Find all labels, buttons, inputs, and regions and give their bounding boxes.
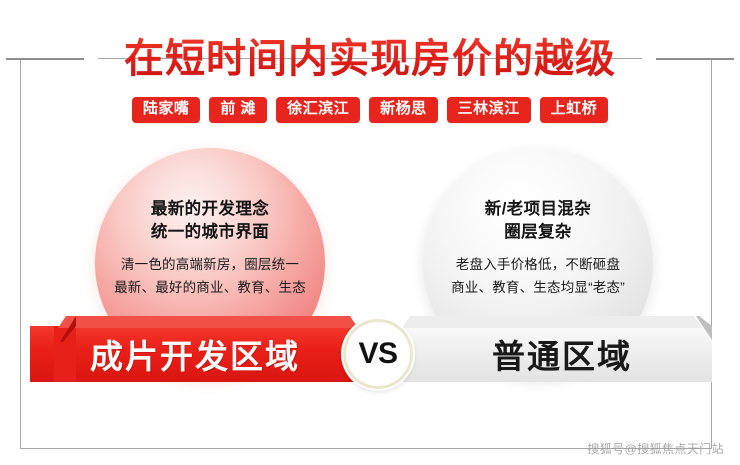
page-title: 在短时间内实现房价的越级 (98, 33, 642, 85)
district-tag-sanlinbinjiang[interactable]: 三林滨江 (447, 97, 531, 123)
title-spacer-right (642, 31, 656, 87)
left-detail-line1: 清一色的高端新房，圈层统一 (60, 254, 360, 275)
right-heading-line1: 新/老项目混杂 (388, 198, 688, 221)
left-banner: 成片开发区域 (30, 316, 378, 382)
title-row: 在短时间内实现房价的越级 (0, 24, 740, 94)
left-heading-line2: 统一的城市界面 (60, 221, 360, 244)
right-detail-line1: 老盘入手价格低，不断砸盘 (388, 254, 688, 275)
left-sphere-text-block: 最新的开发理念 统一的城市界面 清一色的高端新房，圈层统一 最新、最好的商业、教… (60, 198, 360, 299)
title-rule-right (656, 58, 734, 60)
district-tag-row: 陆家嘴 前 滩 徐汇滨江 新杨思 三林滨江 上虹桥 (0, 97, 740, 123)
district-tag-qiantan[interactable]: 前 滩 (209, 97, 267, 123)
watermark-text: 搜狐号@搜狐焦点天门站 (587, 440, 724, 457)
title-spacer-left (84, 31, 98, 87)
left-banner-label: 成片开发区域 (30, 326, 360, 382)
right-detail-line2: 商业、教育、生态均显“老态” (388, 277, 688, 298)
infographic-canvas: 在短时间内实现房价的越级 陆家嘴 前 滩 徐汇滨江 新杨思 三林滨江 上虹桥 最… (0, 0, 740, 465)
right-heading-line2: 圈层复杂 (388, 221, 688, 244)
left-heading-line1: 最新的开发理念 (60, 198, 360, 221)
left-detail-line2: 最新、最好的商业、教育、生态 (60, 277, 360, 298)
district-tag-xinyangsi[interactable]: 新杨思 (369, 97, 438, 123)
right-banner: 普通区域 (398, 316, 712, 382)
right-sphere-text-block: 新/老项目混杂 圈层复杂 老盘入手价格低，不断砸盘 商业、教育、生态均显“老态” (388, 198, 688, 299)
district-tag-xuhuibinjiang[interactable]: 徐汇滨江 (276, 97, 360, 123)
vs-badge: VS (343, 319, 413, 389)
vs-label: VS (358, 339, 397, 369)
title-rule-left (6, 58, 84, 60)
right-banner-label: 普通区域 (412, 326, 712, 382)
district-tag-lujiazui[interactable]: 陆家嘴 (132, 97, 201, 123)
district-tag-shanghongqiao[interactable]: 上虹桥 (540, 97, 609, 123)
